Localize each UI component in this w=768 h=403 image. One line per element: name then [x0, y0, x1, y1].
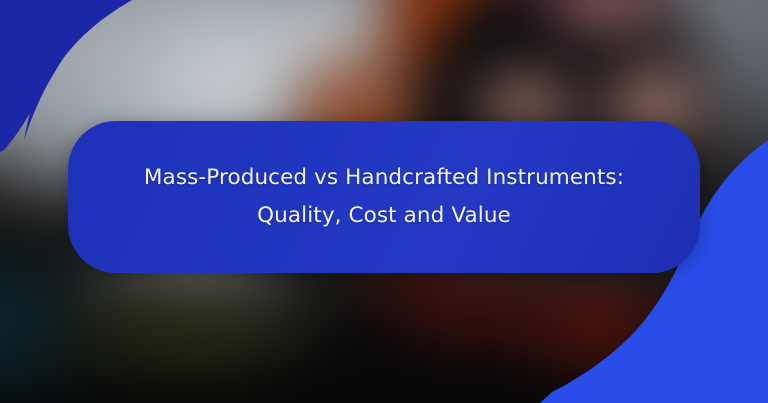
page-title-line-1: Mass-Produced vs Handcrafted Instruments… — [144, 159, 624, 197]
title-card: Mass-Produced vs Handcrafted Instruments… — [68, 121, 700, 273]
page-title-line-2: Quality, Cost and Value — [144, 197, 624, 235]
featured-image-graphic: Mass-Produced vs Handcrafted Instruments… — [0, 0, 768, 403]
page-title: Mass-Produced vs Handcrafted Instruments… — [122, 159, 646, 235]
